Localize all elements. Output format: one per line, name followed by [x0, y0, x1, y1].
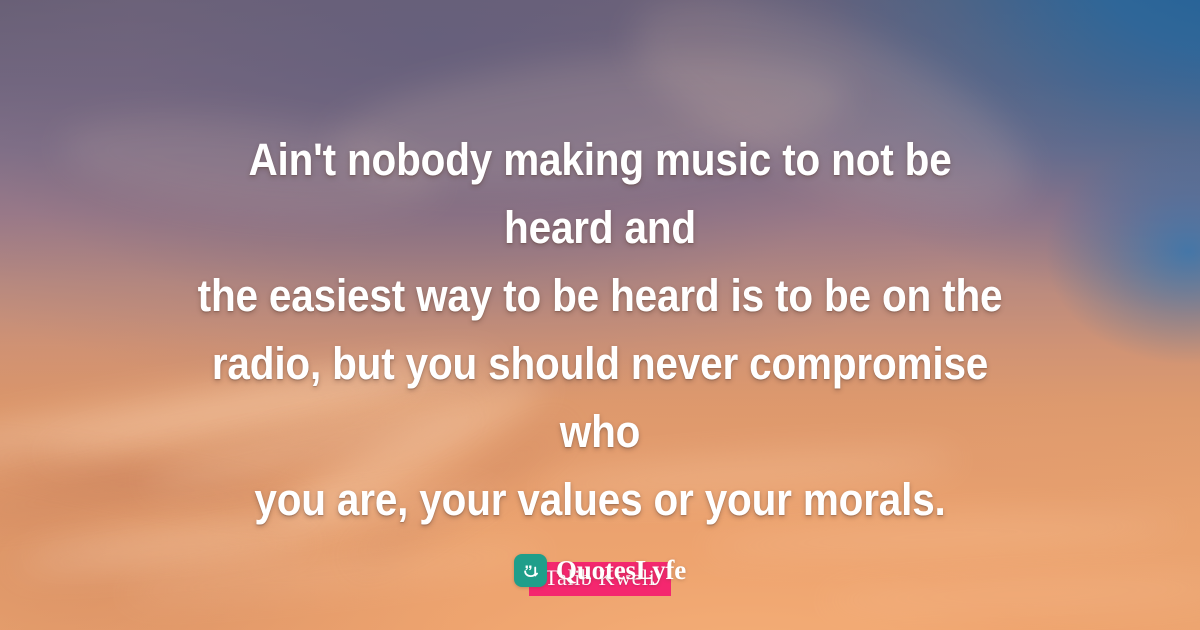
brand-watermark[interactable]: QuotesLyfe	[0, 554, 1200, 587]
quote-card: Ain't nobody making music to not be hear…	[0, 0, 1200, 630]
brand-name: QuotesLyfe	[556, 555, 686, 586]
card-content: Ain't nobody making music to not be hear…	[0, 0, 1200, 630]
quote-text: Ain't nobody making music to not be hear…	[195, 126, 1005, 534]
quote-smiley-icon	[514, 554, 547, 587]
